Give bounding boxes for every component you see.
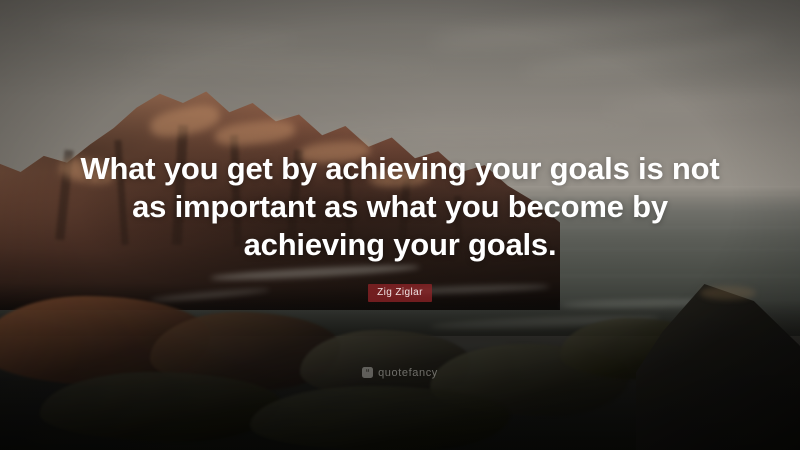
watermark: “ quotefancy <box>0 362 800 380</box>
watermark-label: quotefancy <box>378 367 438 379</box>
quote-badge-icon: “ <box>362 367 373 378</box>
foreground-rock <box>40 372 280 442</box>
quote-text: What you get by achieving your goals is … <box>0 150 800 264</box>
foreground-rock <box>250 386 510 450</box>
author-name: Zig Ziglar <box>368 284 432 302</box>
cloud-streak <box>600 90 800 115</box>
quote-poster: What you get by achieving your goals is … <box>0 0 800 450</box>
cloud-streak <box>120 52 440 75</box>
watermark-inner: “ quotefancy <box>362 367 438 379</box>
cloud-streak <box>40 19 300 47</box>
author-attribution: Zig Ziglar <box>0 282 800 302</box>
